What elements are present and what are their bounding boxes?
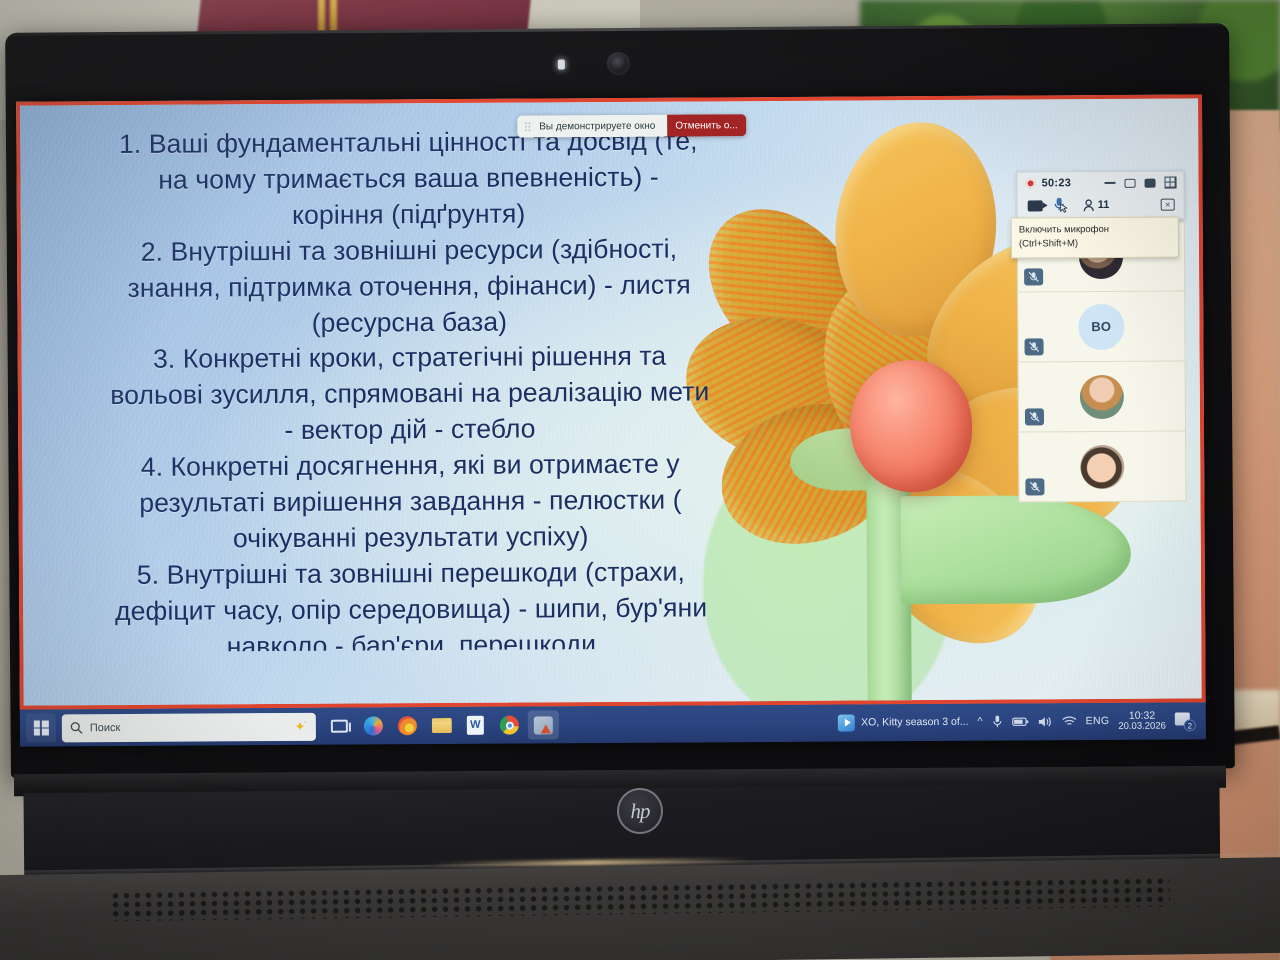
edge-button[interactable] [358, 711, 389, 740]
chevron-up-icon[interactable]: ^ [977, 716, 982, 728]
word-button[interactable]: W [460, 711, 491, 740]
tooltip-shortcut: (Ctrl+Shift+M) [1019, 236, 1171, 251]
taskbar-tray-area: XO, Kitty season 3 of... ^ [838, 710, 1200, 734]
slide-line: - вектор дій - стебло [40, 410, 780, 450]
participant-tile[interactable] [1018, 431, 1186, 502]
microphone-hole-icon [672, 61, 677, 66]
slide-line: знання, підтримка оточення, фінанси) - л… [39, 267, 779, 307]
webcam-assembly [558, 52, 677, 76]
slide-line: 5. Внутрішні та зовнішні перешкоди (стра… [41, 554, 781, 594]
avatar [1080, 444, 1124, 488]
close-icon[interactable]: × [1161, 199, 1175, 211]
clock[interactable]: 10:32 20.03.2026 [1118, 710, 1166, 732]
system-alert-app-button[interactable] [528, 710, 559, 739]
hp-logo-text: hp [630, 798, 649, 823]
slide-line: результаті вирішення завдання - пелюстки… [40, 482, 780, 522]
slide-line: 2. Внутрішні та зовнішні ресурси (здібно… [39, 231, 779, 271]
warning-badge-icon [541, 724, 551, 733]
slide-line: коріння (підґрунтя) [39, 195, 779, 235]
flower-center [850, 360, 973, 493]
edge-icon [364, 716, 383, 735]
window-controls [1105, 177, 1177, 189]
sparkle-icon[interactable]: ✦˙ [295, 718, 306, 734]
participants-icon [1083, 199, 1095, 212]
slide-line: 3. Конкретні кроки, стратегічні рішення … [40, 338, 780, 378]
slide-line: на чому тримається ваша впевненість) - [38, 159, 778, 199]
share-status-area: Вы демонстрируете окно [517, 115, 667, 138]
word-icon: W [467, 716, 484, 735]
avatar [1080, 374, 1124, 418]
task-view-button[interactable] [324, 712, 355, 741]
windows-start-icon [33, 720, 48, 735]
hp-logo: hp [617, 788, 663, 834]
participant-tile[interactable] [1018, 361, 1186, 432]
notification-center-button[interactable]: 2 [1175, 712, 1194, 729]
clock-date: 20.03.2026 [1118, 722, 1166, 733]
wifi-icon[interactable] [1062, 716, 1077, 728]
file-explorer-button[interactable] [426, 711, 457, 740]
microphone-icon[interactable] [992, 715, 1003, 729]
task-view-icon [331, 720, 348, 733]
media-title: XO, Kitty season 3 of... [861, 716, 968, 729]
chrome-icon [500, 716, 519, 735]
conference-controls: 11 × [1026, 197, 1177, 214]
slide-line: навколо - бар'єри, перешкоди [41, 626, 781, 653]
drag-handle-icon[interactable] [524, 121, 531, 132]
avatar-initials: ВО [1078, 303, 1124, 349]
restore-icon[interactable] [1125, 178, 1136, 187]
taskbar-apps: W [324, 710, 559, 740]
search-icon [70, 721, 83, 734]
search-input[interactable]: Поиск ✦˙ [62, 712, 316, 742]
laptop-screen: 1. Ваші фундаментальні цінності та досві… [16, 94, 1206, 746]
presentation-slide: 1. Ваші фундаментальні цінності та досві… [16, 94, 1206, 709]
chrome-button[interactable] [494, 711, 525, 740]
system-alert-app-icon [534, 716, 553, 734]
slide-line: очікуванні результати успіху) [41, 518, 781, 558]
maximize-icon[interactable] [1145, 178, 1156, 187]
windows-taskbar: Поиск ✦˙ W XO, Kitty season 3 of... [20, 702, 1206, 746]
firefox-icon [398, 716, 417, 735]
lid-edge-highlight [5, 23, 1229, 36]
mic-off-icon [1025, 478, 1044, 495]
slide-line: (ресурсна база) [39, 303, 779, 343]
slide-line: 4. Конкретні досягнення, які ви отримаєт… [40, 446, 780, 486]
microphone-muted-icon[interactable] [1053, 197, 1069, 213]
laptop: 1. Ваші фундаментальні цінності та досві… [0, 0, 1280, 960]
mic-off-icon [1024, 268, 1043, 285]
microphone-tooltip: Включить микрофон (Ctrl+Shift+M) [1011, 217, 1179, 259]
battery-icon[interactable] [1012, 716, 1029, 728]
webcam-icon [607, 52, 630, 75]
system-tray: ^ [977, 714, 1109, 729]
participants-control[interactable]: 11 [1083, 198, 1110, 211]
mic-off-icon [1025, 408, 1044, 425]
slide-line: вольові зусилля, спрямовані на реалізаці… [40, 374, 780, 414]
conference-toolbar: 50:23 [1016, 170, 1184, 220]
conference-panel: 50:23 [1016, 170, 1186, 502]
slide-text-block: 1. Ваші фундаментальні цінності та досві… [38, 123, 781, 652]
slide-line: дефіцит часу, опір середовища) - шипи, б… [41, 590, 781, 630]
screen-share-notification[interactable]: Вы демонстрируете окно Отменить о... [517, 114, 746, 137]
conference-titlebar: 50:23 [1026, 177, 1177, 190]
meeting-timer: 50:23 [1042, 177, 1072, 189]
minimize-icon[interactable] [1105, 182, 1116, 184]
volume-icon[interactable] [1038, 715, 1053, 728]
share-status-label: Вы демонстрируете окно [539, 120, 655, 132]
search-placeholder: Поиск [90, 722, 121, 734]
stop-sharing-button[interactable]: Отменить о... [667, 114, 746, 136]
firefox-button[interactable] [392, 711, 423, 740]
notification-count: 2 [1184, 719, 1196, 731]
camera-led-icon [558, 59, 565, 69]
participants-count: 11 [1098, 199, 1110, 211]
grid-view-icon[interactable] [1165, 177, 1177, 189]
tooltip-title: Включить микрофон [1019, 223, 1171, 238]
participant-tiles: ВО [1017, 221, 1187, 502]
media-player-icon [838, 714, 855, 731]
start-button[interactable] [26, 713, 56, 742]
record-dot-icon [1026, 178, 1036, 188]
language-indicator[interactable]: ENG [1086, 715, 1110, 727]
media-playing-chip[interactable]: XO, Kitty season 3 of... [838, 714, 968, 732]
mic-off-icon [1025, 338, 1044, 355]
participant-tile[interactable]: ВО [1017, 291, 1185, 362]
file-explorer-icon [431, 718, 451, 733]
camera-icon[interactable] [1028, 200, 1043, 211]
